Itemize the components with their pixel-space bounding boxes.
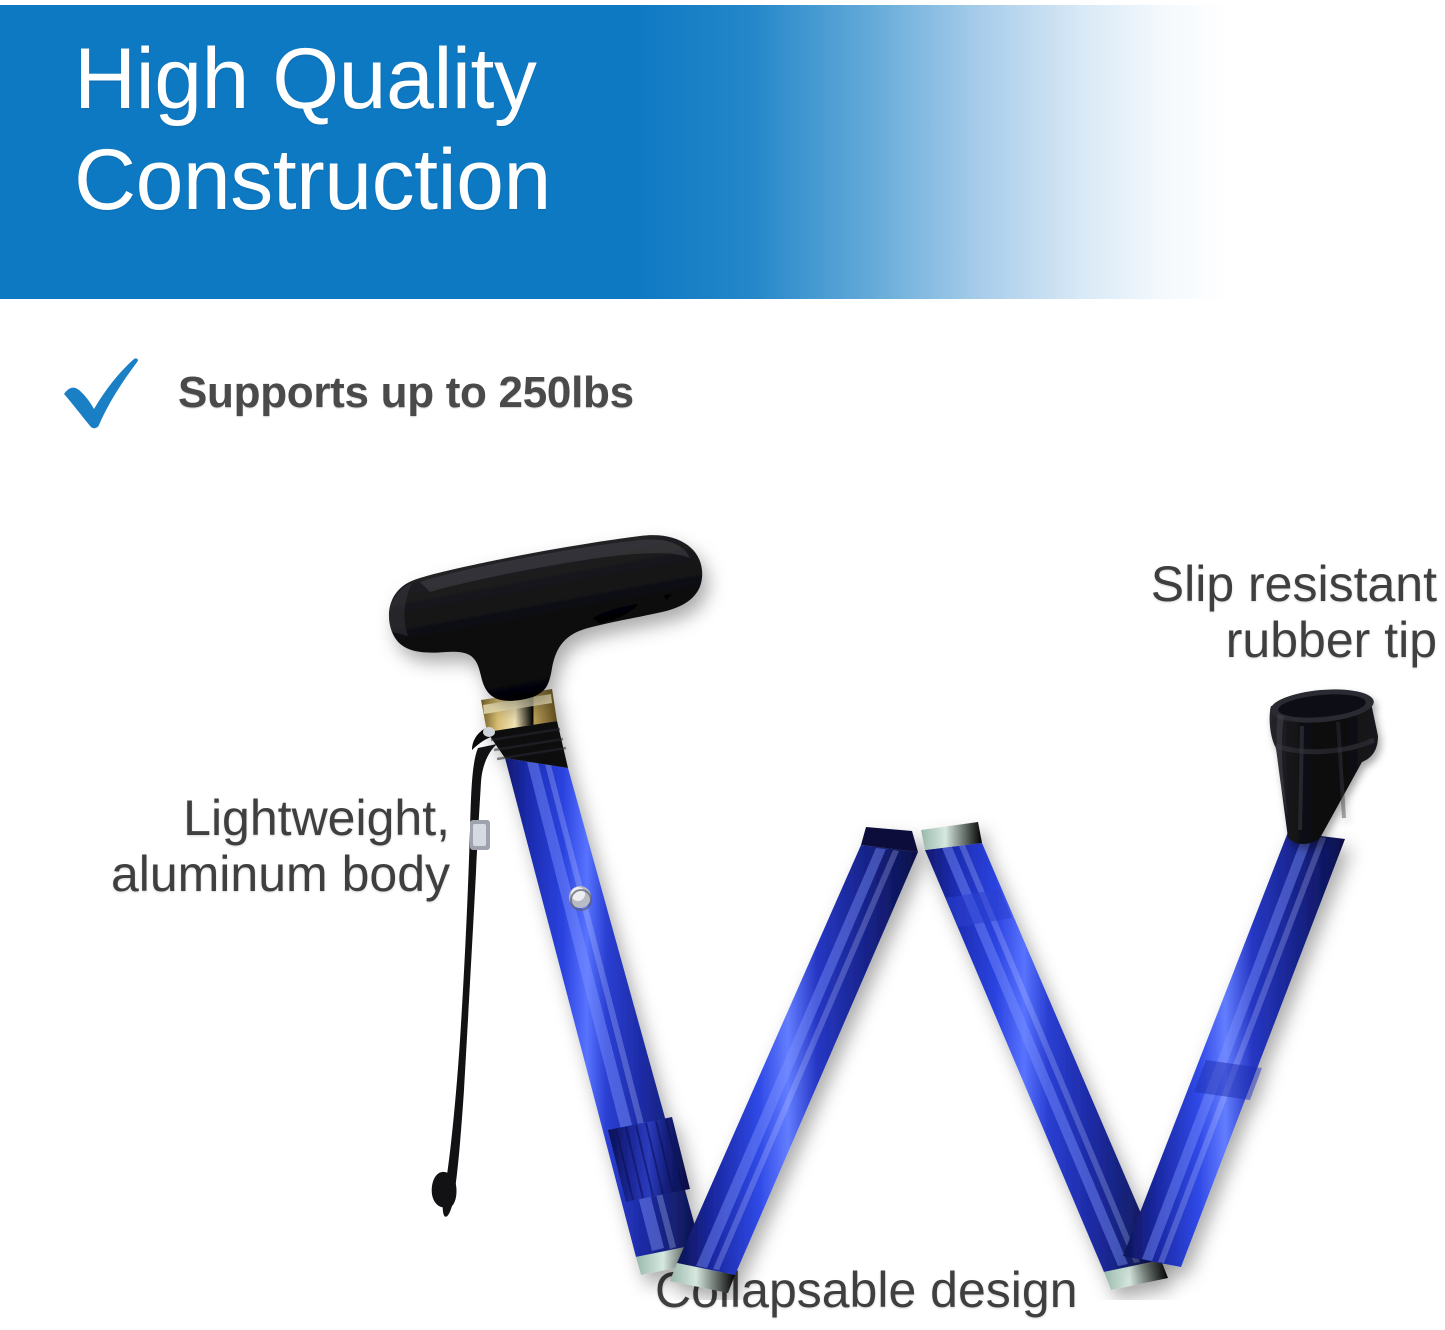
blue-check-icon bbox=[62, 356, 142, 430]
header-banner: High Quality Construction bbox=[0, 5, 1445, 299]
cane-segment-four bbox=[1123, 832, 1345, 1267]
cane-handle-grip bbox=[389, 535, 702, 701]
page-title: High Quality Construction bbox=[74, 29, 551, 232]
product-image-folded-cane bbox=[0, 500, 1445, 1300]
wrist-strap bbox=[432, 727, 497, 1217]
cane-segment-handle bbox=[481, 689, 704, 1275]
infographic-page: High Quality Construction Supports up to… bbox=[0, 0, 1445, 1330]
cane-illustration bbox=[0, 500, 1445, 1300]
cane-segment-two bbox=[670, 827, 918, 1293]
feature-bullet-row: Supports up to 250lbs bbox=[62, 356, 634, 430]
slip-resistant-rubber-tip bbox=[1269, 686, 1378, 844]
cane-segment-three bbox=[921, 822, 1168, 1290]
feature-bullet-label: Supports up to 250lbs bbox=[178, 368, 634, 418]
